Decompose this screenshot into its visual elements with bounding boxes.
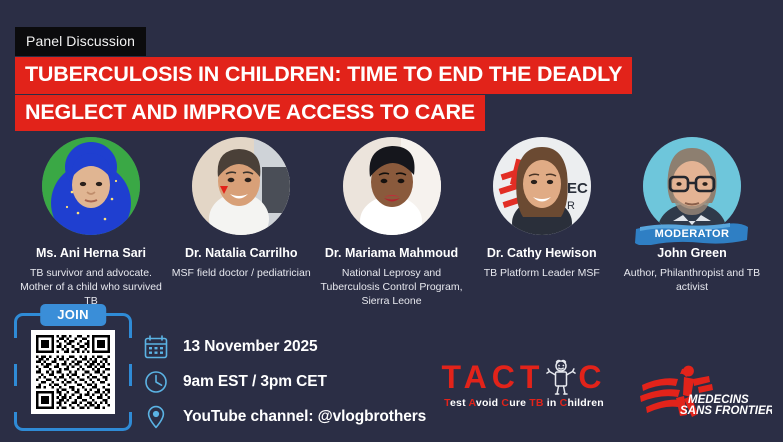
panel-discussion-label: Panel Discussion xyxy=(15,27,146,56)
title-line-1: TUBERCULOSIS IN CHILDREN: TIME TO END TH… xyxy=(15,57,632,94)
moderator-label: MODERATOR xyxy=(634,223,750,245)
speaker-name: Dr. Mariama Mahmoud xyxy=(325,246,458,261)
speaker-role: TB Platform Leader MSF xyxy=(484,267,600,281)
title-line-2: NEGLECT AND IMPROVE ACCESS TO CARE xyxy=(15,95,485,132)
child-stick-figure-icon xyxy=(545,359,577,395)
clock-icon xyxy=(143,369,169,395)
svg-text:EC: EC xyxy=(567,180,588,197)
tactic-word-after: C xyxy=(578,361,606,393)
speaker-name: Ms. Ani Herna Sari xyxy=(36,246,146,261)
speaker-name: John Green xyxy=(657,246,726,261)
tactic-word-before: TACT xyxy=(441,361,544,393)
join-qr-block[interactable]: JOIN xyxy=(14,313,132,431)
portrait-mariama-mahmoud xyxy=(343,137,441,235)
avatar xyxy=(42,137,140,235)
svg-text:R: R xyxy=(567,200,575,212)
portrait-cathy-hewison: EC R xyxy=(493,137,591,235)
qr-code[interactable] xyxy=(31,330,115,414)
qr-code-icon xyxy=(36,335,110,409)
portrait-john-green xyxy=(643,137,741,235)
status-badge: MODERATOR xyxy=(634,223,750,245)
speaker-name: Dr. Natalia Carrilho xyxy=(185,246,298,261)
join-badge[interactable]: JOIN xyxy=(40,304,106,326)
speaker-card: Dr. Natalia Carrilho MSF field doctor / … xyxy=(168,137,314,309)
msf-logo: MEDECINS SANS FRONTIERES xyxy=(636,363,772,417)
speaker-name: Dr. Cathy Hewison xyxy=(487,246,597,261)
speaker-role: MSF field doctor / pediatrician xyxy=(172,267,311,281)
tactic-logo: TACT C Test Avoid Cure TB in Children xyxy=(428,359,620,409)
speaker-role: National Leprosy and Tuberculosis Contro… xyxy=(319,267,465,309)
info-row-date: 13 November 2025 xyxy=(143,332,426,362)
event-channel: YouTube channel: @vlogbrothers xyxy=(183,409,426,425)
msf-logo-icon: MEDECINS SANS FRONTIERES xyxy=(636,363,772,417)
location-pin-icon xyxy=(143,404,169,430)
info-row-channel: YouTube channel: @vlogbrothers xyxy=(143,402,426,432)
event-info: 13 November 2025 9am EST / 3pm CET YouTu… xyxy=(143,332,426,432)
tactic-wordmark: TACT C xyxy=(428,359,620,393)
speaker-card: Ms. Ani Herna Sari TB survivor and advoc… xyxy=(18,137,164,309)
page-title: TUBERCULOSIS IN CHILDREN: TIME TO END TH… xyxy=(15,57,632,131)
kicker-wrapper: Panel Discussion xyxy=(15,27,146,56)
avatar xyxy=(643,137,741,235)
avatar: EC R xyxy=(493,137,591,235)
tactic-tagline: Test Avoid Cure TB in Children xyxy=(428,398,620,409)
speaker-role: TB survivor and advocate. Mother of a ch… xyxy=(18,267,164,309)
avatar xyxy=(343,137,441,235)
speaker-card: MODERATOR John Green Author, Philanthrop… xyxy=(619,137,765,309)
portrait-natalia-carrilho xyxy=(192,137,290,235)
speaker-card: Dr. Mariama Mahmoud National Leprosy and… xyxy=(319,137,465,309)
info-row-time: 9am EST / 3pm CET xyxy=(143,367,426,397)
event-date: 13 November 2025 xyxy=(183,339,318,355)
speaker-role: Author, Philanthropist and TB activist xyxy=(619,267,765,295)
calendar-icon xyxy=(143,334,169,360)
event-time: 9am EST / 3pm CET xyxy=(183,374,327,390)
portrait-ani-herna-sari xyxy=(42,137,140,235)
speaker-card: EC R Dr. Cathy Hewison TB Platform Leade… xyxy=(469,137,615,309)
avatar xyxy=(192,137,290,235)
speaker-list: Ms. Ani Herna Sari TB survivor and advoc… xyxy=(0,137,783,309)
msf-line2: SANS FRONTIERES xyxy=(680,405,772,417)
